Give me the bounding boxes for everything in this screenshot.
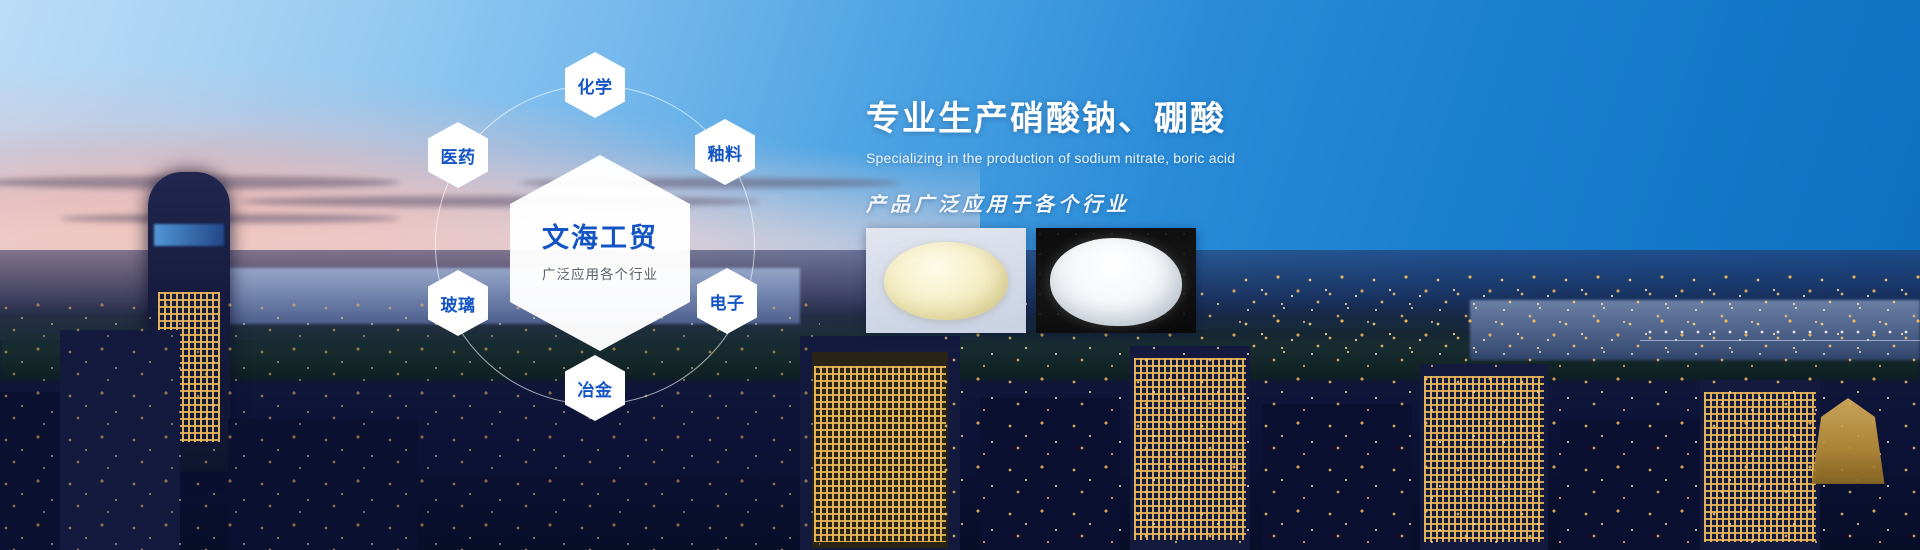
powder-grain-texture — [1036, 228, 1196, 333]
slogan-cn: 产品广泛应用于各个行业 — [866, 188, 1866, 217]
company-tagline: 广泛应用各个行业 — [542, 263, 658, 283]
promo-banner: 文海工贸 广泛应用各个行业 化学 釉料 电子 冶金 玻璃 医药 专业生产硝酸钠、… — [0, 0, 1920, 550]
hex-label: 玻璃 — [441, 291, 476, 316]
company-name: 文海工贸 — [542, 223, 658, 254]
industry-hex-diagram: 文海工贸 广泛应用各个行业 化学 釉料 电子 冶金 玻璃 医药 — [0, 0, 900, 550]
product-photo-boric-acid[interactable] — [1036, 228, 1196, 333]
hex-label: 化学 — [578, 73, 613, 98]
product-photo-sodium-nitrate[interactable] — [866, 228, 1026, 333]
banner-copy: 专业生产硝酸钠、硼酸 Specializing in the productio… — [866, 98, 1866, 217]
suspension-bridge — [1640, 318, 1920, 364]
hex-label: 冶金 — [578, 376, 613, 401]
product-photo-strip — [866, 228, 1196, 333]
hex-label: 釉料 — [708, 140, 743, 165]
hex-label: 电子 — [710, 289, 745, 314]
headline-en: Specializing in the production of sodium… — [866, 150, 1866, 166]
powder-grain-texture — [866, 228, 1026, 333]
headline-cn: 专业生产硝酸钠、硼酸 — [866, 98, 1866, 141]
hex-label: 医药 — [441, 143, 476, 168]
